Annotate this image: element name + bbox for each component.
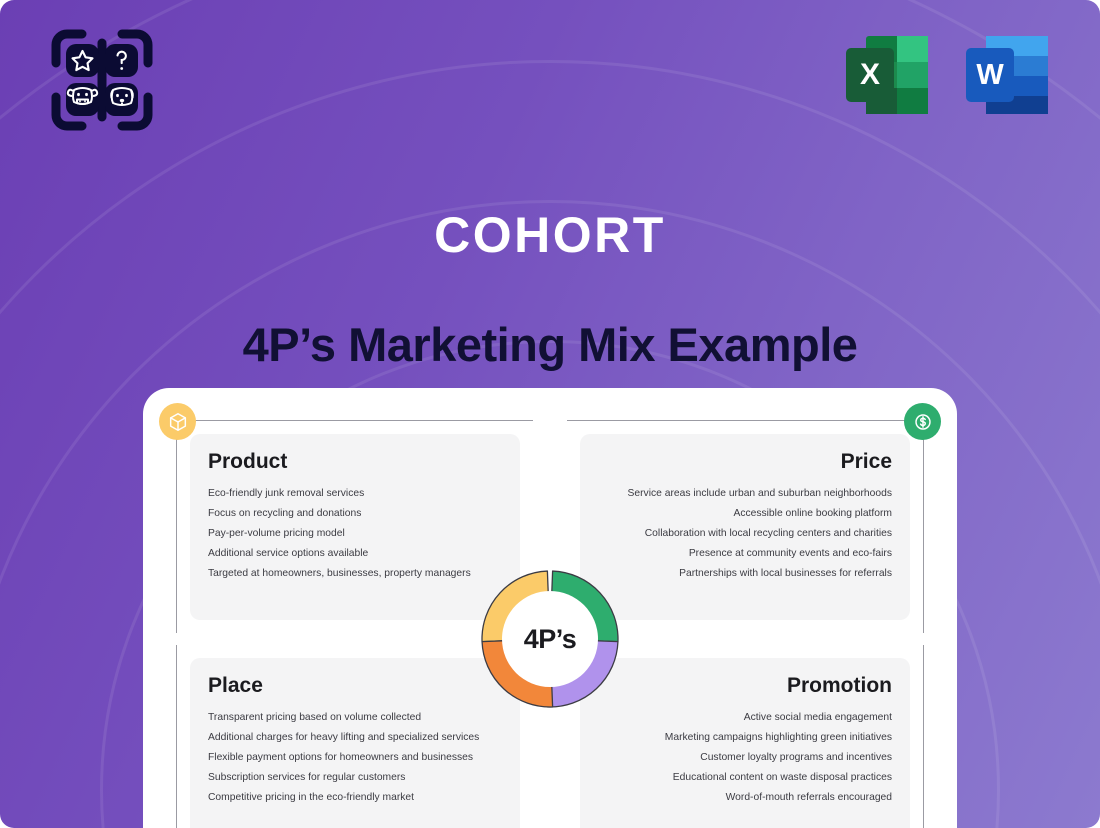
donut-center-label-wrap: 4P’s: [502, 591, 598, 687]
cohort-logo: [49, 27, 155, 133]
quadrant-item: Word-of-mouth referrals encouraged: [598, 792, 892, 804]
quadrant-item: Eco-friendly junk removal services: [208, 488, 502, 500]
slide-canvas: X W COHORT 4P’s Marketing Mix Example: [0, 0, 1100, 828]
quadrant-item: Presence at community events and eco-fai…: [598, 548, 892, 560]
quadrant-item: Customer loyalty programs and incentives: [598, 752, 892, 764]
quadrant-title: Place: [208, 674, 502, 698]
quadrant-item: Additional charges for heavy lifting and…: [208, 732, 502, 744]
quadrant-item: Collaboration with local recycling cente…: [598, 528, 892, 540]
center-donut: 4P’s: [468, 557, 632, 721]
donut-center-label: 4P’s: [524, 624, 577, 655]
svg-text:W: W: [976, 59, 1004, 91]
four-ps-matrix: Product Eco-friendly junk removal servic…: [176, 420, 924, 828]
quadrant-item: Additional service options available: [208, 548, 502, 560]
diagram-card: Product Eco-friendly junk removal servic…: [143, 388, 957, 828]
quadrant-title: Product: [208, 450, 502, 474]
quadrant-item: Flexible payment options for homeowners …: [208, 752, 502, 764]
quadrant-item: Service areas include urban and suburban…: [598, 488, 892, 500]
quadrant-title: Promotion: [598, 674, 892, 698]
quadrant-item: Competitive pricing in the eco-friendly …: [208, 792, 502, 804]
quadrant-item: Educational content on waste disposal pr…: [598, 772, 892, 784]
page-title: 4P’s Marketing Mix Example: [0, 312, 1100, 378]
quadrant-item: Transparent pricing based on volume coll…: [208, 712, 502, 724]
quadrant-item: Accessible online booking platform: [598, 508, 892, 520]
excel-icon: X: [840, 31, 936, 119]
quadrant-item: Subscription services for regular custom…: [208, 772, 502, 784]
word-icon: W: [962, 31, 1058, 119]
quadrant-title: Price: [598, 450, 892, 474]
brand-title: COHORT: [0, 207, 1100, 263]
quadrant-item: Active social media engagement: [598, 712, 892, 724]
box-icon: [159, 403, 196, 440]
quadrant-item: Marketing campaigns highlighting green i…: [598, 732, 892, 744]
quadrant-item: Targeted at homeowners, businesses, prop…: [208, 568, 502, 580]
dollar-coin-icon: [904, 403, 941, 440]
office-app-icons: X W: [840, 31, 1058, 119]
quadrant-item: Partnerships with local businesses for r…: [598, 568, 892, 580]
svg-text:X: X: [860, 58, 880, 91]
quadrant-item: Focus on recycling and donations: [208, 508, 502, 520]
quadrant-item: Pay-per-volume pricing model: [208, 528, 502, 540]
